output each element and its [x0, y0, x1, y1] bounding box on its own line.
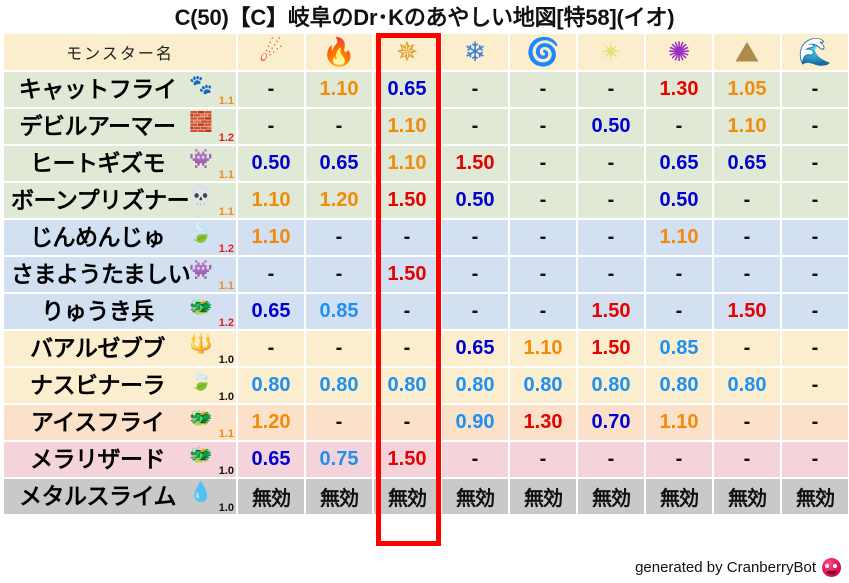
- damage-value-cell: 0.90: [442, 405, 508, 440]
- damage-value-cell: -: [782, 331, 848, 366]
- table-body: モンスター名☄🔥✵❄🌀✴✺⛰🌊キャットフライ🐾1.1-1.100.65---1.…: [4, 34, 848, 514]
- damage-value-cell: 無効: [306, 479, 372, 514]
- header-cell-element-dorumaa[interactable]: ✺: [646, 34, 712, 70]
- damage-value-cell: 1.50: [374, 442, 440, 477]
- damage-value-cell: -: [714, 220, 780, 255]
- monster-name-cell[interactable]: メタルスライム💧1.0: [4, 479, 236, 514]
- header-cell-element-jibaria[interactable]: ⛰: [714, 34, 780, 70]
- damage-value-cell: -: [510, 146, 576, 181]
- damage-value-cell: -: [374, 405, 440, 440]
- damage-value-cell: 無効: [782, 479, 848, 514]
- header-cell-element-gira[interactable]: 🔥: [306, 34, 372, 70]
- damage-value-cell: -: [782, 294, 848, 329]
- damage-value-cell: 0.80: [510, 368, 576, 403]
- damage-multiplier-table-page: C(50)【C】岐阜のDr･Kのあやしい地図[特58](イオ) モンスター名☄🔥…: [0, 0, 849, 583]
- damage-value-cell: 0.80: [238, 368, 304, 403]
- table-row: じんめんじゅ🍃1.21.10-----1.10--: [4, 220, 848, 255]
- damage-value-cell: -: [714, 183, 780, 218]
- monster-version-badge: 1.0: [219, 354, 234, 366]
- damage-value-cell: 0.85: [306, 294, 372, 329]
- damage-value-cell: -: [238, 257, 304, 292]
- damage-value-cell: 0.50: [238, 146, 304, 181]
- header-cell-element-mera[interactable]: ☄: [238, 34, 304, 70]
- damage-value-cell: -: [646, 109, 712, 144]
- damage-value-cell: -: [510, 257, 576, 292]
- table-row: ボーンプリズナー💀1.11.101.201.500.50--0.50--: [4, 183, 848, 218]
- monster-version-badge: 1.1: [219, 280, 234, 292]
- damage-value-cell: -: [782, 368, 848, 403]
- dragon-icon: 🐲: [188, 444, 214, 468]
- damage-value-cell: 1.30: [510, 405, 576, 440]
- damage-value-cell: -: [646, 442, 712, 477]
- footer-credit: generated by CranberryBot: [635, 558, 841, 577]
- damage-value-cell: -: [714, 257, 780, 292]
- header-cell-element-hyado[interactable]: ❄: [442, 34, 508, 70]
- damage-value-cell: -: [442, 220, 508, 255]
- damage-value-cell: -: [782, 442, 848, 477]
- damage-value-cell: -: [374, 331, 440, 366]
- table-row: ナスビナーラ🍃1.00.800.800.800.800.800.800.800.…: [4, 368, 848, 403]
- monster-name-cell[interactable]: メラリザード🐲1.0: [4, 442, 236, 477]
- table-row: メラリザード🐲1.00.650.751.50------: [4, 442, 848, 477]
- monster-version-badge: 1.1: [219, 428, 234, 440]
- flame-icon: 🔥: [319, 34, 359, 70]
- ghost-icon: 👾: [188, 259, 214, 283]
- damage-value-cell: -: [510, 294, 576, 329]
- slime-icon: 💧: [188, 481, 214, 505]
- damage-value-cell: -: [306, 405, 372, 440]
- damage-value-cell: 0.65: [714, 146, 780, 181]
- table-row: デビルアーマー🧱1.2--1.10--0.50-1.10-: [4, 109, 848, 144]
- damage-value-cell: -: [238, 331, 304, 366]
- damage-value-cell: -: [578, 146, 644, 181]
- damage-value-cell: -: [442, 257, 508, 292]
- damage-value-cell: 無効: [646, 479, 712, 514]
- leaf-icon: 🍃: [188, 222, 214, 246]
- table-row: メタルスライム💧1.0無効無効無効無効無効無効無効無効無効: [4, 479, 848, 514]
- monster-name-cell[interactable]: ボーンプリズナー💀1.1: [4, 183, 236, 218]
- header-cell-monster-name: モンスター名: [4, 34, 236, 70]
- damage-value-cell: 1.10: [238, 220, 304, 255]
- damage-value-cell: -: [782, 146, 848, 181]
- table-row: キャットフライ🐾1.1-1.100.65---1.301.05-: [4, 72, 848, 107]
- header-cell-element-jigo[interactable]: 🌊: [782, 34, 848, 70]
- damage-value-cell: 0.85: [646, 331, 712, 366]
- monster-version-badge: 1.1: [219, 95, 234, 107]
- damage-value-cell: 無効: [238, 479, 304, 514]
- brick-wall-icon: 🧱: [188, 111, 214, 135]
- damage-value-cell: -: [646, 257, 712, 292]
- monster-version-badge: 1.0: [219, 465, 234, 477]
- damage-value-cell: -: [578, 257, 644, 292]
- monster-version-badge: 1.2: [219, 317, 234, 329]
- fireball-icon: ☄: [251, 34, 291, 70]
- damage-value-cell: -: [374, 294, 440, 329]
- damage-value-cell: -: [510, 220, 576, 255]
- cranberry-bot-icon: [822, 558, 841, 577]
- damage-value-cell: -: [782, 183, 848, 218]
- table-row: さまようたましい👾1.1--1.50------: [4, 257, 848, 292]
- monster-version-badge: 1.0: [219, 391, 234, 403]
- damage-value-cell: -: [782, 220, 848, 255]
- damage-value-cell: -: [782, 72, 848, 107]
- monster-name-cell[interactable]: さまようたましい👾1.1: [4, 257, 236, 292]
- damage-value-cell: -: [306, 220, 372, 255]
- damage-value-cell: -: [646, 294, 712, 329]
- table-row: ヒートギズモ👾1.10.500.651.101.50--0.650.65-: [4, 146, 848, 181]
- damage-value-cell: 1.10: [510, 331, 576, 366]
- monster-version-badge: 1.1: [219, 169, 234, 181]
- tornado-icon: 🌀: [523, 34, 563, 70]
- monster-version-badge: 1.0: [219, 502, 234, 514]
- damage-value-cell: 0.80: [306, 368, 372, 403]
- damage-value-cell: 1.30: [646, 72, 712, 107]
- damage-value-cell: 0.65: [646, 146, 712, 181]
- monster-name-cell[interactable]: アイスフライ🐲1.1: [4, 405, 236, 440]
- dragon-icon: 🐲: [188, 407, 214, 431]
- damage-value-cell: -: [442, 294, 508, 329]
- ghost-icon: 👾: [188, 148, 214, 172]
- damage-value-cell: -: [306, 109, 372, 144]
- damage-value-cell: 1.50: [374, 257, 440, 292]
- damage-value-cell: 1.50: [578, 294, 644, 329]
- header-cell-element-dein[interactable]: ✴: [578, 34, 644, 70]
- damage-value-cell: 1.20: [306, 183, 372, 218]
- damage-value-cell: -: [442, 72, 508, 107]
- damage-value-cell: 1.10: [714, 109, 780, 144]
- damage-value-cell: 1.50: [578, 331, 644, 366]
- damage-value-cell: 無効: [442, 479, 508, 514]
- damage-value-cell: 0.65: [238, 294, 304, 329]
- damage-value-cell: 0.50: [578, 109, 644, 144]
- damage-value-cell: 1.05: [714, 72, 780, 107]
- header-cell-element-io[interactable]: ✵: [374, 34, 440, 70]
- damage-value-cell: -: [578, 72, 644, 107]
- damage-value-cell: -: [714, 405, 780, 440]
- damage-value-cell: 0.75: [306, 442, 372, 477]
- monster-name-cell[interactable]: ヒートギズモ👾1.1: [4, 146, 236, 181]
- table-row: アイスフライ🐲1.11.20--0.901.300.701.10--: [4, 405, 848, 440]
- damage-value-cell: 1.10: [306, 72, 372, 107]
- damage-value-cell: -: [238, 72, 304, 107]
- damage-value-cell: -: [714, 442, 780, 477]
- monster-version-badge: 1.2: [219, 243, 234, 255]
- footer-text: generated by CranberryBot: [635, 559, 816, 576]
- dark-icon: ✺: [659, 34, 699, 70]
- monster-name-cell[interactable]: デビルアーマー🧱1.2: [4, 109, 236, 144]
- table-row: りゅうき兵🐲1.20.650.85---1.50-1.50-: [4, 294, 848, 329]
- monster-name-cell[interactable]: バアルゼブブ🔱1.0: [4, 331, 236, 366]
- damage-value-cell: 0.65: [238, 442, 304, 477]
- table-header-row: モンスター名☄🔥✵❄🌀✴✺⛰🌊: [4, 34, 848, 70]
- snowflake-icon: ❄: [455, 34, 495, 70]
- damage-value-cell: 0.50: [646, 183, 712, 218]
- damage-value-cell: 1.50: [714, 294, 780, 329]
- monster-name-cell[interactable]: キャットフライ🐾1.1: [4, 72, 236, 107]
- damage-value-cell: 1.50: [374, 183, 440, 218]
- damage-value-cell: -: [782, 109, 848, 144]
- damage-value-cell: 無効: [510, 479, 576, 514]
- page-title: C(50)【C】岐阜のDr･Kのあやしい地図[特58](イオ): [0, 0, 849, 32]
- damage-value-cell: 1.50: [442, 146, 508, 181]
- damage-value-cell: -: [510, 109, 576, 144]
- damage-value-cell: 1.10: [238, 183, 304, 218]
- damage-value-cell: 0.80: [442, 368, 508, 403]
- damage-value-cell: 0.80: [374, 368, 440, 403]
- damage-value-cell: 0.65: [374, 72, 440, 107]
- damage-value-cell: 1.10: [374, 109, 440, 144]
- damage-value-cell: -: [510, 442, 576, 477]
- monster-version-badge: 1.1: [219, 206, 234, 218]
- damage-value-cell: 無効: [578, 479, 644, 514]
- damage-value-cell: 無効: [374, 479, 440, 514]
- damage-value-cell: 0.65: [306, 146, 372, 181]
- damage-value-cell: 1.10: [646, 220, 712, 255]
- earth-icon: ⛰: [727, 34, 767, 70]
- damage-value-cell: 0.80: [714, 368, 780, 403]
- damage-value-cell: -: [306, 257, 372, 292]
- damage-value-cell: 無効: [714, 479, 780, 514]
- damage-value-cell: -: [782, 405, 848, 440]
- damage-value-cell: 0.80: [646, 368, 712, 403]
- demon-icon: 🔱: [188, 333, 214, 357]
- damage-value-cell: -: [238, 109, 304, 144]
- damage-value-cell: 0.65: [442, 331, 508, 366]
- damage-value-cell: 1.10: [646, 405, 712, 440]
- lightning-icon: ✴: [591, 34, 631, 70]
- damage-value-cell: -: [714, 331, 780, 366]
- damage-value-cell: -: [374, 220, 440, 255]
- monster-version-badge: 1.2: [219, 132, 234, 144]
- damage-value-cell: -: [578, 183, 644, 218]
- damage-value-cell: -: [578, 442, 644, 477]
- damage-value-cell: 0.80: [578, 368, 644, 403]
- damage-value-cell: 1.20: [238, 405, 304, 440]
- header-cell-element-bagi[interactable]: 🌀: [510, 34, 576, 70]
- wave-icon: 🌊: [795, 34, 835, 70]
- leaf-icon: 🍃: [188, 370, 214, 394]
- monster-name-cell[interactable]: ナスビナーラ🍃1.0: [4, 368, 236, 403]
- damage-value-cell: -: [510, 183, 576, 218]
- monster-element-table: モンスター名☄🔥✵❄🌀✴✺⛰🌊キャットフライ🐾1.1-1.100.65---1.…: [2, 32, 849, 516]
- damage-value-cell: -: [578, 220, 644, 255]
- damage-value-cell: 0.50: [442, 183, 508, 218]
- skull-icon: 💀: [188, 185, 214, 209]
- damage-value-cell: 1.10: [374, 146, 440, 181]
- damage-value-cell: -: [442, 109, 508, 144]
- monster-name-cell[interactable]: じんめんじゅ🍃1.2: [4, 220, 236, 255]
- damage-value-cell: -: [442, 442, 508, 477]
- explosion-icon: ✵: [387, 34, 427, 70]
- table-row: バアルゼブブ🔱1.0---0.651.101.500.85--: [4, 331, 848, 366]
- dragon-icon: 🐲: [188, 296, 214, 320]
- monster-name-cell[interactable]: りゅうき兵🐲1.2: [4, 294, 236, 329]
- damage-value-cell: -: [510, 72, 576, 107]
- damage-value-cell: 0.70: [578, 405, 644, 440]
- paw-icon: 🐾: [188, 74, 214, 98]
- damage-value-cell: -: [782, 257, 848, 292]
- damage-value-cell: -: [306, 331, 372, 366]
